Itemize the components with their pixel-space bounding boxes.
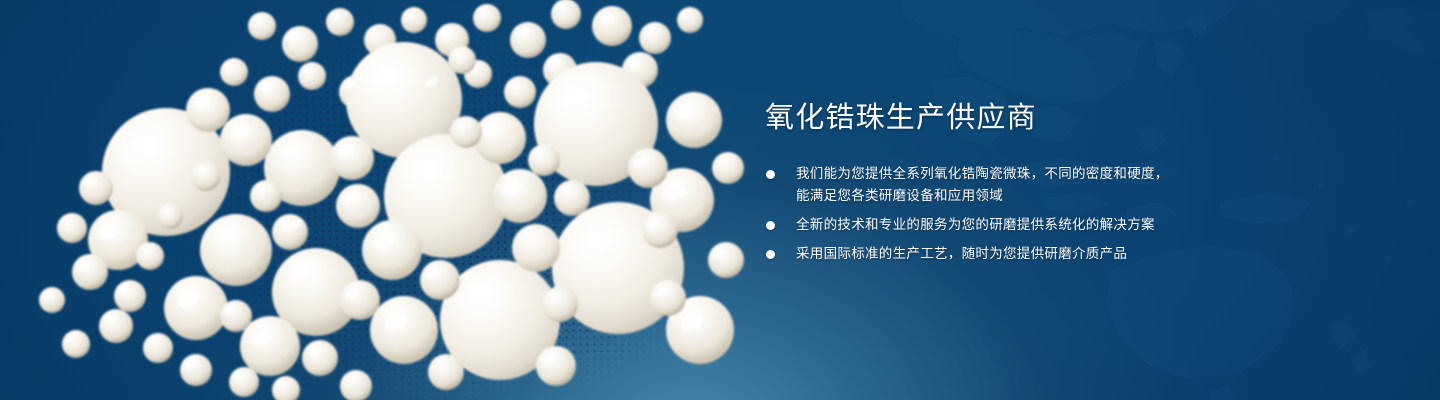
bullet-item-3: 采用国际标准的生产工艺，随时为您提供研磨介质产品 <box>765 243 1365 265</box>
zirconia-beads-image <box>0 0 760 400</box>
banner-bullet-list: 我们能为您提供全系列氧化锆陶瓷微珠，不同的密度和硬度， 能满足您各类研磨设备和应… <box>765 163 1365 265</box>
bullet-dot-icon <box>766 221 775 230</box>
banner-copy-block: 氧化锆珠生产供应商 我们能为您提供全系列氧化锆陶瓷微珠，不同的密度和硬度， 能满… <box>765 104 1365 265</box>
bullet-dot-icon <box>766 170 775 179</box>
bullet-item-2: 全新的技术和专业的服务为您的研磨提供系统化的解决方案 <box>765 214 1365 236</box>
banner-headline: 氧化锆珠生产供应商 <box>765 104 1365 133</box>
bullet-item-1: 我们能为您提供全系列氧化锆陶瓷微珠，不同的密度和硬度， 能满足您各类研磨设备和应… <box>765 163 1365 207</box>
bullet-item-1-line-1: 我们能为您提供全系列氧化锆陶瓷微珠，不同的密度和硬度， <box>796 163 1365 185</box>
hero-banner: 氧化锆珠生产供应商 我们能为您提供全系列氧化锆陶瓷微珠，不同的密度和硬度， 能满… <box>0 0 1440 400</box>
bullet-item-3-line-1: 采用国际标准的生产工艺，随时为您提供研磨介质产品 <box>796 243 1365 265</box>
bullet-dot-icon <box>766 250 775 259</box>
bullet-item-1-line-2: 能满足您各类研磨设备和应用领域 <box>796 185 1365 207</box>
bullet-item-2-line-1: 全新的技术和专业的服务为您的研磨提供系统化的解决方案 <box>796 214 1365 236</box>
